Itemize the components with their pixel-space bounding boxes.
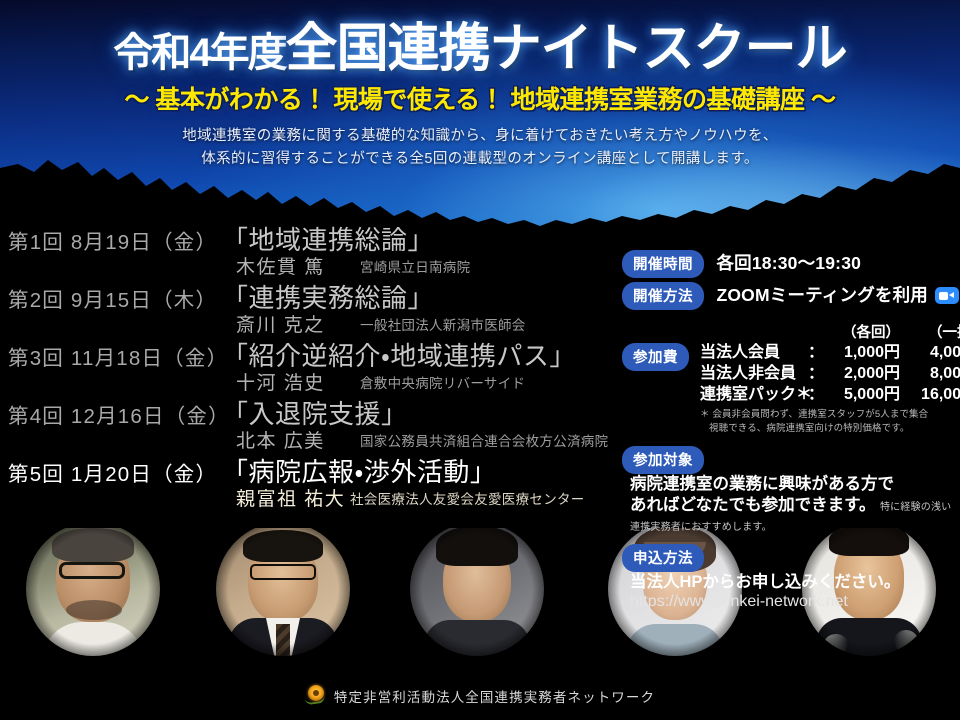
info-row-time: 開催時間 各回18:30～19:30: [622, 250, 960, 278]
portrait-glasses-1: [59, 562, 125, 579]
portrait-clothing-3: [424, 620, 530, 662]
fee-each-1: 1,000円: [822, 342, 900, 363]
portrait-beard-1: [66, 600, 122, 620]
apply-value-wrap: 当法人HPからお申し込みください。 https://www.renkei-net…: [630, 572, 960, 611]
seminar-poster: 令和4年度全国連携ナイトスクール ～ 基本がわかる！ 現場で使える！ 地域連携室…: [0, 0, 960, 720]
session-row-2: 第2回 9月15日（木） 「連携実務総論」 斎川 克之 一般社団法人新潟市医師会: [0, 280, 630, 338]
event-info-panel: 開催時間 各回18:30～19:30 開催方法 ZOOMミーティングを利用 参加…: [622, 250, 960, 615]
portrait-disc-3: [410, 528, 544, 656]
portrait-hair-1: [52, 528, 134, 562]
apply-line-1: 当法人HPからお申し込みください。: [630, 573, 900, 591]
method-value-wrap: ZOOMミーティングを利用: [716, 282, 959, 307]
session-speaker-5: 親富祖 祐大: [236, 484, 345, 511]
session-schedule-list: 第1回 8月19日（金） 「地域連携総論」 木佐貫 篤 宮崎県立日南病院 第2回…: [0, 222, 630, 512]
poster-header: 令和4年度全国連携ナイトスクール ～ 基本がわかる！ 現場で使える！ 地域連携室…: [0, 0, 960, 170]
poster-description: 地域連携室の業務に関する基礎的な知識から、身に着けておきたい考え方やノウハウを、…: [0, 125, 960, 170]
fee-table-row-1: 当法人会員：1,000円4,000円: [700, 342, 960, 363]
session-organization-4: 国家公務員共済組合連合会枚方公済病院: [360, 430, 608, 450]
info-row-method: 開催方法 ZOOMミーティングを利用: [622, 282, 960, 310]
sunflower-logo-icon: [305, 685, 327, 705]
session-date-5: 第5回 1月20日（金）: [8, 457, 217, 487]
session-date-3: 第3回 11月18日（金）: [8, 341, 228, 371]
method-value: ZOOMミーティングを利用: [716, 285, 928, 305]
apply-url-link[interactable]: https://www.renkei-network.net: [630, 593, 848, 610]
session-organization-1: 宮崎県立日南病院: [360, 256, 470, 276]
portrait-hair-2: [243, 530, 323, 562]
footer-organization-name: 特定非営利活動法人全国連携実務者ネットワーク: [334, 690, 655, 705]
portrait-clothing-4: [626, 624, 724, 662]
title-main-text: 全国連携ナイトスクール: [286, 20, 847, 78]
portrait-glasses-2: [250, 564, 316, 580]
time-value-wrap: 各回18:30～19:30: [716, 250, 861, 275]
description-line-1: 地域連携室の業務に関する基礎的な知識から、身に着けておきたい考え方やノウハウを、: [0, 125, 960, 147]
portrait-pattern-5: [824, 634, 848, 654]
session-date-4: 第4回 12月16日（金）: [8, 399, 230, 429]
session-organization-5: 社会医療法人友愛会友愛医療センター: [350, 488, 585, 508]
session-row-5: 第5回 1月20日（金） 「病院広報・渉外活動」 親富祖 祐大 社会医療法人友愛…: [0, 454, 630, 512]
description-line-2: 体系的に習得することができる全5回の連載型のオンライン講座として開講します。: [0, 148, 960, 170]
audience-line-2: あればどなたでも参加できます。: [630, 496, 876, 514]
poster-subtitle: ～ 基本がわかる！ 現場で使える！ 地域連携室業務の基礎講座 ～: [0, 80, 960, 116]
session-row-3: 第3回 11月18日（金） 「紹介逆紹介・地域連携パス」 十河 浩史 倉敷中央病…: [0, 338, 630, 396]
session-speaker-4: 北本 広美: [236, 426, 325, 453]
fee-footnote-line-2: 視聴できる、病院連携室向けの特別価格です。: [700, 422, 960, 436]
info-row-fee: 参加費 （各回）（一括） 当法人会員：1,000円4,000円 当法人非会員：2…: [622, 321, 960, 436]
session-row-4: 第4回 12月16日（金） 「入退院支援」 北本 広美 国家公務員共済組合連合会…: [0, 396, 630, 454]
fee-table-row-2: 当法人非会員：2,000円8,000円: [700, 363, 960, 384]
portrait-tie-2: [276, 624, 290, 662]
session-date-1: 第1回 8月19日（金）: [8, 225, 217, 255]
audience-value-wrap: 病院連携室の業務に興味がある方で あればどなたでも参加できます。 特に経験の浅い…: [630, 474, 960, 535]
fee-label-2: 当法人非会員: [700, 363, 808, 384]
portrait-disc-2: [216, 528, 350, 656]
fee-table-header: （各回）（一括）: [700, 321, 960, 342]
poster-footer: 特定非営利活動法人全国連携実務者ネットワーク: [0, 685, 960, 706]
portrait-hair-3: [436, 528, 518, 566]
fee-colon-3: ：: [808, 384, 822, 405]
portrait-speaker-2: [202, 528, 362, 680]
zoom-video-icon: [935, 287, 959, 304]
session-speaker-2: 斎川 克之: [236, 310, 325, 337]
session-row-1: 第1回 8月19日（金） 「地域連携総論」 木佐貫 篤 宮崎県立日南病院: [0, 222, 630, 280]
session-date-2: 第2回 9月15日（木）: [8, 283, 217, 313]
info-row-audience: 参加対象 病院連携室の業務に興味がある方で あればどなたでも参加できます。 特に…: [622, 446, 960, 535]
portrait-pattern2-5: [894, 630, 918, 652]
portrait-speaker-1: [12, 528, 172, 680]
audience-line-1: 病院連携室の業務に興味がある方で: [630, 475, 894, 493]
session-organization-2: 一般社団法人新潟市医師会: [360, 314, 526, 334]
fee-label-1: 当法人会員: [700, 342, 808, 363]
page-title: 令和4年度全国連携ナイトスクール: [0, 22, 960, 76]
badge-method: 開催方法: [622, 282, 704, 310]
fee-footnote: ＊ 会員非会員問わず、連携室スタッフが5人まで集合 視聴できる、病院連携室向けの…: [700, 408, 960, 436]
fee-colon-1: ：: [808, 342, 822, 363]
badge-fee: 参加費: [622, 343, 689, 371]
fee-table: （各回）（一括） 当法人会員：1,000円4,000円 当法人非会員：2,000…: [700, 321, 960, 436]
fee-bulk-1: 4,000円: [900, 342, 960, 363]
session-organization-3: 倉敷中央病院リバーサイド: [360, 372, 525, 392]
fee-column-each: （各回）: [822, 321, 900, 342]
session-speaker-1: 木佐貫 篤: [236, 252, 325, 279]
time-value: 各回18:30～19:30: [716, 253, 861, 273]
fee-column-bulk: （一括）: [900, 321, 960, 342]
portrait-disc-1: [26, 528, 160, 656]
badge-apply: 申込方法: [622, 544, 704, 572]
fee-colon-2: ：: [808, 363, 822, 384]
fee-each-2: 2,000円: [822, 363, 900, 384]
badge-audience: 参加対象: [622, 446, 704, 474]
fee-bulk-2: 8,000円: [900, 363, 960, 384]
badge-time: 開催時間: [622, 250, 704, 278]
session-speaker-3: 十河 浩史: [236, 368, 325, 395]
fee-bulk-3: 16,000円: [900, 384, 960, 405]
fee-each-3: 5,000円: [822, 384, 900, 405]
title-era: 令和4年度: [113, 31, 285, 75]
portrait-speaker-3: [396, 528, 556, 680]
fee-label-3: 連携室パック＊: [700, 384, 808, 405]
info-row-apply: 申込方法 当法人HPからお申し込みください。 https://www.renke…: [622, 544, 960, 611]
fee-footnote-line-1: ＊ 会員非会員問わず、連携室スタッフが5人まで集合: [700, 409, 928, 420]
fee-table-row-3: 連携室パック＊：5,000円16,000円: [700, 384, 960, 405]
